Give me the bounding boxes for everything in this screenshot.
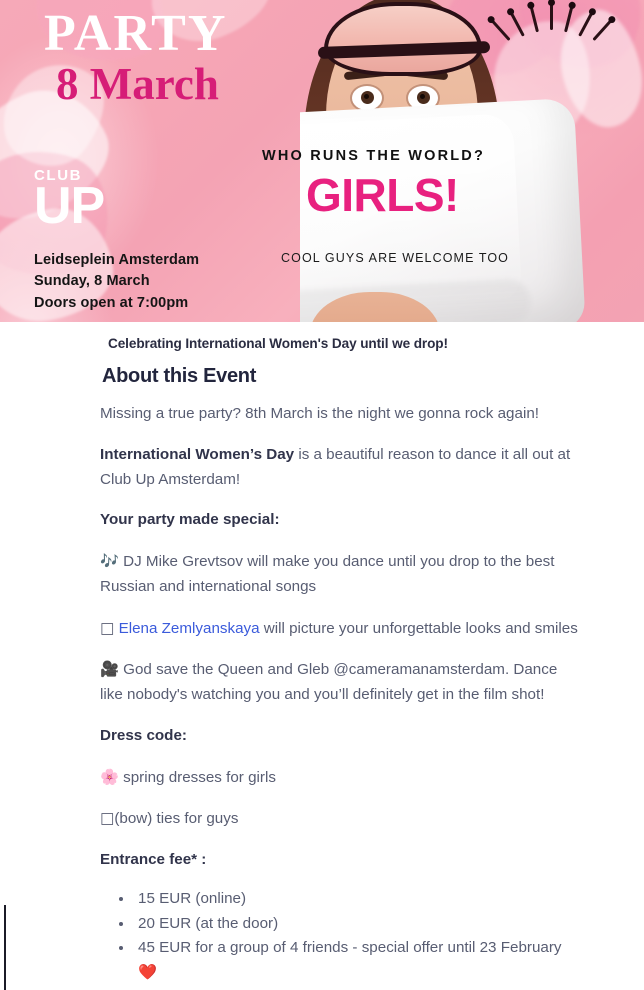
womens-day-bold: International Women’s Day bbox=[100, 446, 294, 463]
event-tagline: Celebrating International Women's Day un… bbox=[108, 336, 448, 351]
musical-notes-icon: 🎶 bbox=[100, 552, 119, 570]
videographer-paragraph: 🎥 God save the Queen and Gleb @cameraman… bbox=[100, 657, 582, 708]
venue-address: Leidseplein Amsterdam bbox=[34, 250, 199, 271]
list-item: 15 EUR (online) bbox=[134, 887, 582, 912]
dj-text: DJ Mike Grevtsov will make you dance unt… bbox=[100, 553, 555, 595]
venue-details: Leidseplein Amsterdam Sunday, 8 March Do… bbox=[34, 250, 199, 314]
left-edge-rule bbox=[4, 905, 6, 990]
about-this-event-heading: About this Event bbox=[102, 365, 256, 388]
camera-photo-icon: □ bbox=[100, 619, 114, 637]
dress-guys-line: □(bow) ties for guys bbox=[100, 806, 582, 832]
videographer-text: God save the Queen and Gleb @cameramanam… bbox=[100, 661, 557, 703]
about-body: Missing a true party? 8th March is the n… bbox=[100, 402, 582, 990]
eye-left bbox=[352, 86, 382, 110]
photographer-text: will picture your unforgettable looks an… bbox=[260, 620, 578, 637]
dj-paragraph: 🎶 DJ Mike Grevtsov will make you dance u… bbox=[100, 549, 582, 600]
club-up-logo: CLUB UP bbox=[34, 168, 104, 228]
dress-guys-text: (bow) ties for guys bbox=[114, 810, 238, 827]
bow-tie-icon: □ bbox=[100, 809, 114, 827]
party-title: PARTY bbox=[44, 8, 227, 60]
womens-day-paragraph: International Women’s Day is a beautiful… bbox=[100, 443, 582, 493]
list-item: 20 EUR (at the door) bbox=[134, 912, 582, 937]
intro-paragraph: Missing a true party? 8th March is the n… bbox=[100, 402, 582, 427]
event-page: PARTY 8 March CLUB UP Leidseplein Amster… bbox=[0, 0, 644, 990]
dress-girls-text: spring dresses for girls bbox=[119, 769, 276, 786]
sleep-mask-icon bbox=[324, 2, 482, 76]
entrance-fee-heading: Entrance fee* : bbox=[100, 848, 582, 873]
list-item: 45 EUR for a group of 4 friends - specia… bbox=[134, 936, 582, 986]
entrance-fee-list: 15 EUR (online) 20 EUR (at the door) 45 … bbox=[100, 887, 582, 986]
special-heading: Your party made special: bbox=[100, 508, 582, 533]
movie-camera-icon: 🎥 bbox=[100, 660, 119, 678]
banner-subheadline: COOL GUYS ARE WELCOME TOO bbox=[281, 251, 509, 265]
photographer-paragraph: □ Elena Zemlyanskaya will picture your u… bbox=[100, 616, 582, 642]
entrance-fee-heading-text: Entrance fee* : bbox=[100, 851, 206, 868]
venue-doors-open: Doors open at 7:00pm bbox=[34, 293, 199, 314]
headline-answer: GIRLS! bbox=[306, 172, 459, 218]
event-hero-banner: PARTY 8 March CLUB UP Leidseplein Amster… bbox=[0, 0, 644, 322]
venue-day: Sunday, 8 March bbox=[34, 271, 199, 292]
headline-question: WHO RUNS THE WORLD? bbox=[262, 148, 485, 164]
dress-code-heading-text: Dress code: bbox=[100, 727, 187, 744]
photographer-link[interactable]: Elena Zemlyanskaya bbox=[119, 620, 260, 637]
party-date: 8 March bbox=[56, 62, 219, 107]
special-heading-text: Your party made special: bbox=[100, 511, 280, 528]
cherry-blossom-icon: 🌸 bbox=[100, 768, 119, 786]
dress-code-heading: Dress code: bbox=[100, 724, 582, 749]
dress-girls-line: 🌸 spring dresses for girls bbox=[100, 765, 582, 791]
logo-up-text: UP bbox=[34, 185, 104, 228]
